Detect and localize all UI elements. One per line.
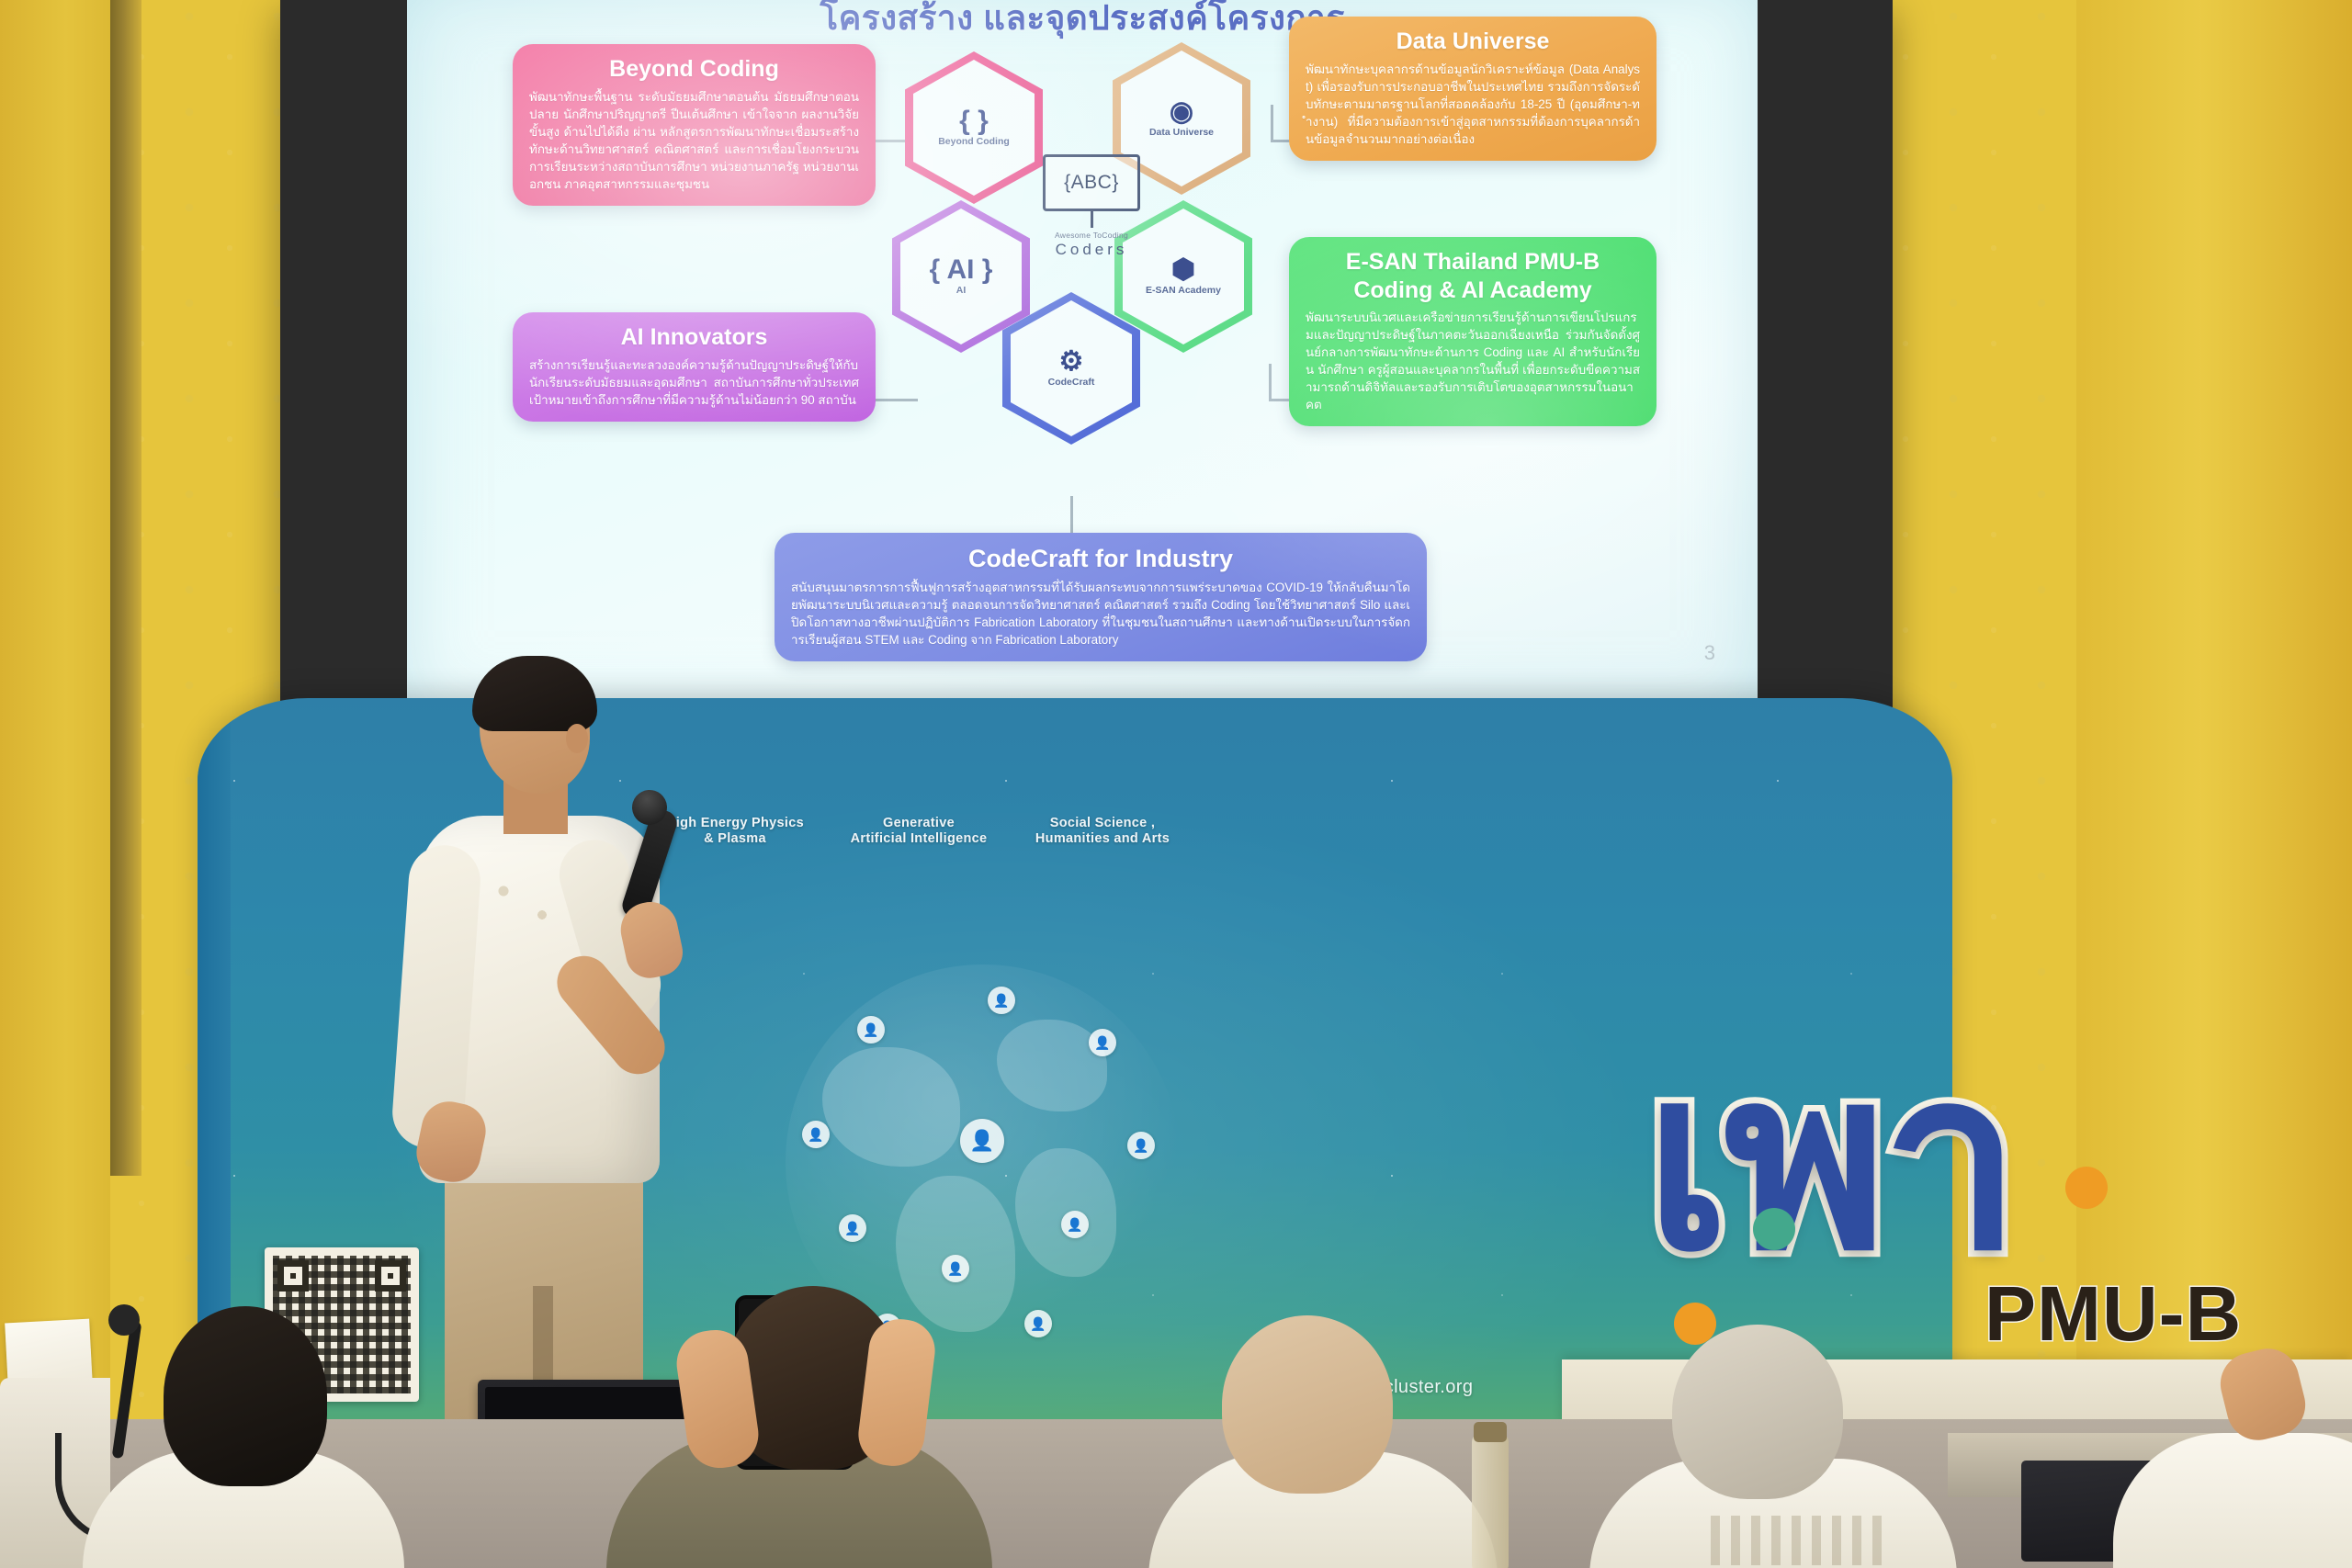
audience-member-4-head: [1672, 1325, 1843, 1499]
whiteboard-stand-icon: [1091, 211, 1093, 228]
globe-node: 👤: [942, 1255, 969, 1282]
presentation-photo-scene: โครงสร้าง และจุดประสงค์โครงการ Beyond Co…: [0, 0, 2352, 1568]
speaker-person: [395, 643, 689, 1506]
card-beyond-coding-body: พัฒนาทักษะพื้นฐาน ระดับมัธยมศึกษาตอนต้น …: [529, 88, 859, 193]
speaker-shirt-print: [483, 873, 571, 941]
audience-member-4-shirt-print: [1711, 1516, 1885, 1565]
center-logo-wordmark: Coders: [1023, 241, 1160, 259]
water-bottle: [1472, 1433, 1509, 1568]
audience-member-3-head: [1222, 1315, 1393, 1494]
shield-badge-icon: ⬢: [1171, 256, 1195, 284]
card-ai-innovators: AI Innovators สร้างการเรียนรู้และทะลวงอง…: [513, 312, 876, 422]
code-braces-icon: { }: [959, 107, 989, 135]
water-bottle-cap: [1474, 1422, 1507, 1442]
logo-dot-green: [1753, 1208, 1795, 1250]
globe-node: 👤: [988, 987, 1015, 1014]
card-codecraft-industry-heading: CodeCraft for Industry: [791, 544, 1410, 574]
pmub-wordmark: PMU-B: [1984, 1269, 2242, 1359]
hexagon-codecraft-label: CodeCraft: [1048, 378, 1095, 389]
audience-member-1-head: [164, 1306, 327, 1486]
hexagon-esan-academy-label: E-SAN Academy: [1146, 286, 1221, 297]
audience-microphone-head-icon: [108, 1304, 140, 1336]
card-beyond-coding: Beyond Coding พัฒนาทักษะพื้นฐาน ระดับมัธ…: [513, 44, 876, 206]
globe-node: 👤: [1127, 1132, 1155, 1159]
hexagon-ai-label: AI: [956, 286, 967, 297]
center-logo-subtitle: Awesome ToCoding: [1023, 231, 1160, 240]
globe-node: 👤: [1024, 1310, 1052, 1337]
globe-node: 👤: [1089, 1029, 1116, 1056]
card-codecraft-industry-body: สนับสนุนมาตรการการฟื้นฟูการสร้างอุตสาหกร…: [791, 579, 1410, 649]
globe-landmass: [1015, 1148, 1116, 1277]
whiteboard-icon: {ABC}: [1043, 154, 1140, 211]
card-beyond-coding-heading: Beyond Coding: [529, 55, 859, 84]
wall-dark-edge: [110, 0, 141, 1176]
speaker-hair: [472, 656, 597, 731]
presentation-slide: โครงสร้าง และจุดประสงค์โครงการ Beyond Co…: [407, 0, 1758, 718]
globe-swirl-icon: ◉: [1170, 98, 1193, 126]
neural-network-icon: { AI }: [930, 256, 993, 284]
hexagon-data-universe-label: Data Universe: [1149, 128, 1214, 139]
card-esan-academy-body: พัฒนาระบบนิเวศและเครือข่ายการเรียนรู้ด้า…: [1306, 309, 1640, 413]
speaker-ear: [566, 724, 588, 753]
card-data-universe: Data Universe พัฒนาทักษะบุคลากรด้านข้อมู…: [1289, 17, 1657, 161]
globe-landmass: [997, 1020, 1107, 1111]
pmub-thai-mark: เพา: [1645, 1038, 2016, 1286]
card-ai-innovators-heading: AI Innovators: [529, 323, 859, 352]
globe-node: 👤: [1061, 1211, 1089, 1238]
slide-page-number: 3: [1704, 641, 1715, 665]
globe-node: 👤: [857, 1016, 885, 1043]
card-ai-innovators-body: สร้างการเรียนรู้และทะลวงองค์ความรู้ด้านป…: [529, 356, 859, 409]
logo-dot-orange-right: [2065, 1167, 2108, 1209]
coders-center-logo: {ABC} Awesome ToCoding Coders: [1023, 154, 1160, 259]
hexagon-beyond-coding-label: Beyond Coding: [938, 137, 1010, 148]
card-esan-academy-heading: E-SAN Thailand PMU-B Coding & AI Academy: [1306, 248, 1640, 304]
globe-node: 👤: [839, 1214, 866, 1242]
globe-node: 👤: [802, 1121, 830, 1148]
card-data-universe-body: พัฒนาทักษะบุคลากรด้านข้อมูลนักวิเคราะห์ข…: [1306, 61, 1640, 148]
qr-finder-top-left: [277, 1260, 309, 1292]
card-esan-academy: E-SAN Thailand PMU-B Coding & AI Academy…: [1289, 237, 1657, 426]
hexagon-cluster: { } Beyond Coding ◉ Data Universe { AI }…: [885, 46, 1289, 524]
slide-diagram: Beyond Coding พัฒนาทักษะพื้นฐาน ระดับมัธ…: [407, 37, 1758, 680]
globe-landmass: [822, 1047, 960, 1167]
pillar-social-science: Social Science , Humanities and Arts: [1015, 816, 1190, 848]
pillar-generative-ai: Generative Artificial Intelligence: [831, 816, 1006, 848]
card-data-universe-heading: Data Universe: [1306, 28, 1640, 56]
gear-icon: ⚙: [1059, 348, 1084, 376]
globe-node-center: 👤: [960, 1119, 1004, 1163]
card-codecraft-industry: CodeCraft for Industry สนับสนุนมาตรการกา…: [775, 533, 1427, 661]
globe-landmass: [896, 1176, 1015, 1332]
